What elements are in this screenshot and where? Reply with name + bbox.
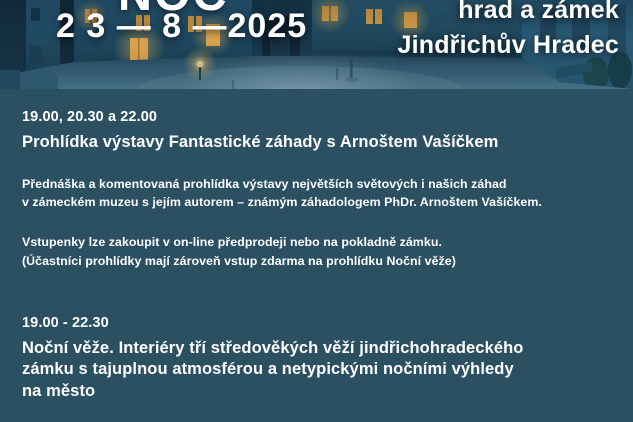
poster-venue: hrad a zámek Jindřichův Hradec xyxy=(397,0,619,60)
event-2-title: Noční věže. Interiéry tří středověkých v… xyxy=(22,338,611,403)
program-section-divider xyxy=(22,271,611,313)
hero-text-group: NOC 2 3 — 8 —2025 hrad a zámek Jindřichů… xyxy=(0,0,633,89)
venue-type-label: hrad a zámek xyxy=(397,0,619,26)
event-1-time: 19.00, 20.30 a 22.00 xyxy=(22,107,611,129)
poster-hero-banner: NOC 2 3 — 8 —2025 hrad a zámek Jindřichů… xyxy=(0,0,633,89)
event-2-time: 19.00 - 22.30 xyxy=(22,313,611,335)
poster-event-date: 2 3 — 8 —2025 xyxy=(56,9,307,43)
event-2-title-line-3: na město xyxy=(22,381,611,403)
event-1-ticket-line-1: Vstupenky lze zakoupit v on-line předpro… xyxy=(22,233,611,252)
event-1-title-line-1: Prohlídka výstavy Fantastické záhady s A… xyxy=(22,132,611,154)
program-event-1: 19.00, 20.30 a 22.00 Prohlídka výstavy F… xyxy=(22,107,611,271)
event-1-description-line-1: Přednáška a komentovaná prohlídka výstav… xyxy=(22,175,611,194)
event-2-title-line-1: Noční věže. Interiéry tří středověkých v… xyxy=(22,338,611,360)
event-1-ticket-line-2: (Účastníci prohlídky mají zároveň vstup … xyxy=(22,252,611,271)
event-2-title-line-2: zámku s tajuplnou atmosférou a netypický… xyxy=(22,359,611,381)
program-event-2: 19.00 - 22.30 Noční věže. Interiéry tří … xyxy=(22,313,611,403)
venue-name-label: Jindřichův Hradec xyxy=(397,31,619,61)
event-1-description: Přednáška a komentovaná prohlídka výstav… xyxy=(22,175,611,213)
event-1-title: Prohlídka výstavy Fantastické záhady s A… xyxy=(22,132,611,154)
event-1-description-line-2: v zámeckém muzeu s jejím autorem – známý… xyxy=(22,193,611,212)
poster-program-content: 19.00, 20.30 a 22.00 Prohlídka výstavy F… xyxy=(0,89,633,403)
event-1-ticket-info: Vstupenky lze zakoupit v on-line předpro… xyxy=(22,233,611,271)
